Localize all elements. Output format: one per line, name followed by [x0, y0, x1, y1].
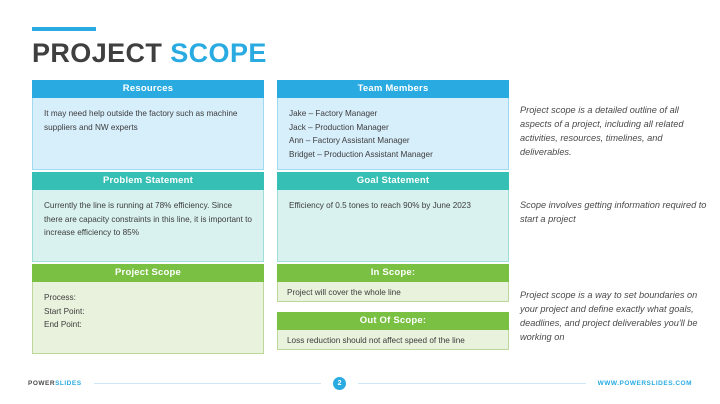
card-goal-statement-body: Efficiency of 0.5 tones to reach 90% by … [277, 190, 509, 262]
footer: POWERSLIDES 2 WWW.POWERSLIDES.COM [0, 376, 720, 390]
card-goal-statement[interactable]: Goal Statement Efficiency of 0.5 tones t… [277, 172, 509, 262]
project-scope-field-process: Process: [44, 291, 252, 305]
card-resources[interactable]: Resources It may need help outside the f… [32, 80, 264, 170]
card-problem-statement-body: Currently the line is running at 78% eff… [32, 190, 264, 262]
card-out-of-scope-body: Loss reduction should not affect speed o… [277, 330, 509, 350]
card-out-of-scope-heading: Out Of Scope: [277, 312, 509, 330]
card-resources-body: It may need help outside the factory suc… [32, 98, 264, 170]
page-title-primary: PROJECT [32, 38, 162, 68]
card-resources-heading: Resources [32, 80, 264, 98]
footer-logo-accent: SLIDES [55, 380, 81, 387]
project-scope-field-start-point: Start Point: [44, 305, 252, 319]
page-number-badge: 2 [333, 377, 346, 390]
title-accent-rule [32, 27, 96, 31]
card-project-scope-heading: Project Scope [32, 264, 264, 282]
card-team-members-body: Jake – Factory Manager Jack – Production… [277, 98, 509, 170]
card-project-scope[interactable]: Project Scope Process: Start Point: End … [32, 264, 264, 354]
side-note-definition: Project scope is a detailed outline of a… [520, 103, 710, 159]
page-title-accent: SCOPE [170, 38, 267, 68]
team-member-item: Ann – Factory Assistant Manager [289, 134, 497, 148]
side-note-boundaries: Project scope is a way to set boundaries… [520, 288, 710, 344]
card-in-scope[interactable]: In Scope: Project will cover the whole l… [277, 264, 509, 302]
card-resources-text: It may need help outside the factory suc… [44, 107, 252, 134]
card-in-scope-body: Project will cover the whole line [277, 282, 509, 302]
team-member-item: Jack – Production Manager [289, 121, 497, 135]
side-note-scope-involves: Scope involves getting information requi… [520, 198, 710, 226]
card-problem-statement-text: Currently the line is running at 78% eff… [44, 199, 252, 240]
card-in-scope-text: Project will cover the whole line [287, 286, 499, 300]
project-scope-field-end-point: End Point: [44, 318, 252, 332]
card-goal-statement-heading: Goal Statement [277, 172, 509, 190]
footer-url[interactable]: WWW.POWERSLIDES.COM [598, 380, 692, 387]
team-member-item: Bridget – Production Assistant Manager [289, 148, 497, 162]
team-member-item: Jake – Factory Manager [289, 107, 497, 121]
card-problem-statement[interactable]: Problem Statement Currently the line is … [32, 172, 264, 262]
card-goal-statement-text: Efficiency of 0.5 tones to reach 90% by … [289, 199, 497, 213]
card-team-members[interactable]: Team Members Jake – Factory Manager Jack… [277, 80, 509, 170]
card-project-scope-body: Process: Start Point: End Point: [32, 282, 264, 354]
card-in-scope-heading: In Scope: [277, 264, 509, 282]
footer-divider-right [358, 383, 586, 384]
card-out-of-scope[interactable]: Out Of Scope: Loss reduction should not … [277, 312, 509, 350]
footer-logo[interactable]: POWERSLIDES [28, 380, 82, 387]
page-title: PROJECT SCOPE [32, 40, 267, 67]
card-problem-statement-heading: Problem Statement [32, 172, 264, 190]
page-title-block: PROJECT SCOPE [32, 27, 267, 67]
footer-logo-primary: POWER [28, 380, 55, 387]
footer-divider-left [94, 383, 322, 384]
card-out-of-scope-text: Loss reduction should not affect speed o… [287, 334, 499, 348]
card-team-members-heading: Team Members [277, 80, 509, 98]
